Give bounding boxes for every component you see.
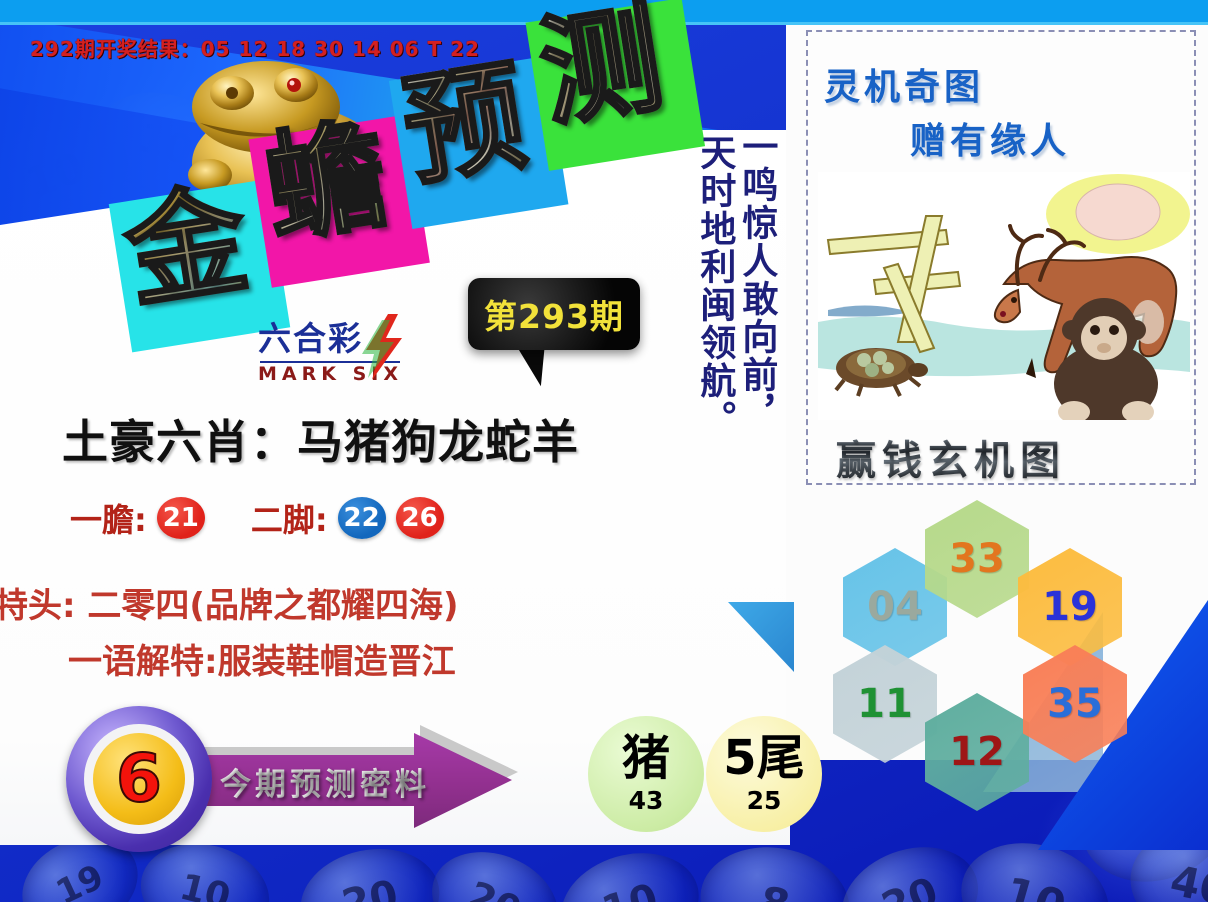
hexagon-number-label: 33 — [949, 536, 1005, 582]
arrow-banner-label: 今期预测密料 — [220, 759, 430, 804]
result-circle-tail: 5尾 25 — [706, 716, 822, 832]
hexagon-number-label: 04 — [867, 584, 923, 630]
issue-badge: 第293期 — [468, 278, 640, 350]
poster-canvas: 101020101040191020201082010 292期开奖结果：05 … — [0, 0, 1208, 902]
lightning-bolt-icon — [354, 314, 414, 380]
jiete-line: 一语解特:服装鞋帽造晋江 — [68, 634, 456, 683]
jiao-number-ball-1: 22 — [338, 497, 386, 539]
banner-ball-ring: 6 — [84, 724, 194, 834]
mystic-card-title-line1: 灵机奇图 — [824, 58, 984, 110]
hexagon-number-label: 12 — [949, 729, 1005, 775]
title-char-0: 金 — [118, 180, 255, 317]
banner-ball-number: 6 — [116, 746, 162, 812]
hexagon-number-label: 11 — [857, 681, 913, 727]
couplet-left: 天时地利闽领航。 — [694, 134, 734, 438]
jiao-number-ball-2: 26 — [396, 497, 444, 539]
prediction-banner-arrow[interactable]: 今期预测密料 — [182, 733, 512, 828]
dan-label: 一膽: — [70, 495, 147, 541]
title-char-1: 蟾 — [258, 115, 395, 252]
result-circle-zodiac: 猪 43 — [588, 716, 704, 832]
issue-badge-label: 第293期 — [484, 290, 624, 338]
tetou-line: 特头: 二零四(品牌之都耀四海) — [0, 578, 459, 627]
mark-six-logo: 六合彩 MARK SIX — [258, 312, 428, 384]
hexagon-number-label: 19 — [1042, 584, 1098, 630]
title-char-2: 预 — [396, 57, 533, 194]
hexagon-number-label: 35 — [1047, 681, 1103, 727]
result-circle-zodiac-main: 猪 — [622, 734, 670, 782]
result-circle-tail-main: 5尾 — [723, 734, 804, 782]
banner-ball: 6 — [66, 706, 212, 852]
issue-badge-tail — [517, 343, 551, 388]
sun-icon — [1076, 184, 1160, 240]
mystic-illustration — [818, 172, 1190, 420]
banner-ball-core: 6 — [93, 733, 185, 825]
title-char-3: 测 — [533, 0, 670, 136]
mystic-card-title-line2: 赠有缘人 — [910, 112, 1070, 164]
result-circle-tail-sub: 25 — [747, 786, 782, 815]
six-zodiac-line: 土豪六肖：马猪狗龙蛇羊 — [62, 406, 579, 472]
dan-number-ball: 21 — [157, 497, 205, 539]
dan-jiao-row: 一膽: 21 二脚: 22 26 — [70, 495, 444, 541]
couplet-right: 一鸣惊人敢向前， — [736, 128, 776, 432]
draw-result-line: 292期开奖结果：05 12 18 30 14 06 T 22 — [30, 33, 480, 62]
mystic-card-footer: 赢钱玄机图 — [836, 428, 1066, 486]
jiao-label: 二脚: — [251, 495, 328, 541]
result-circle-zodiac-sub: 43 — [629, 786, 664, 815]
